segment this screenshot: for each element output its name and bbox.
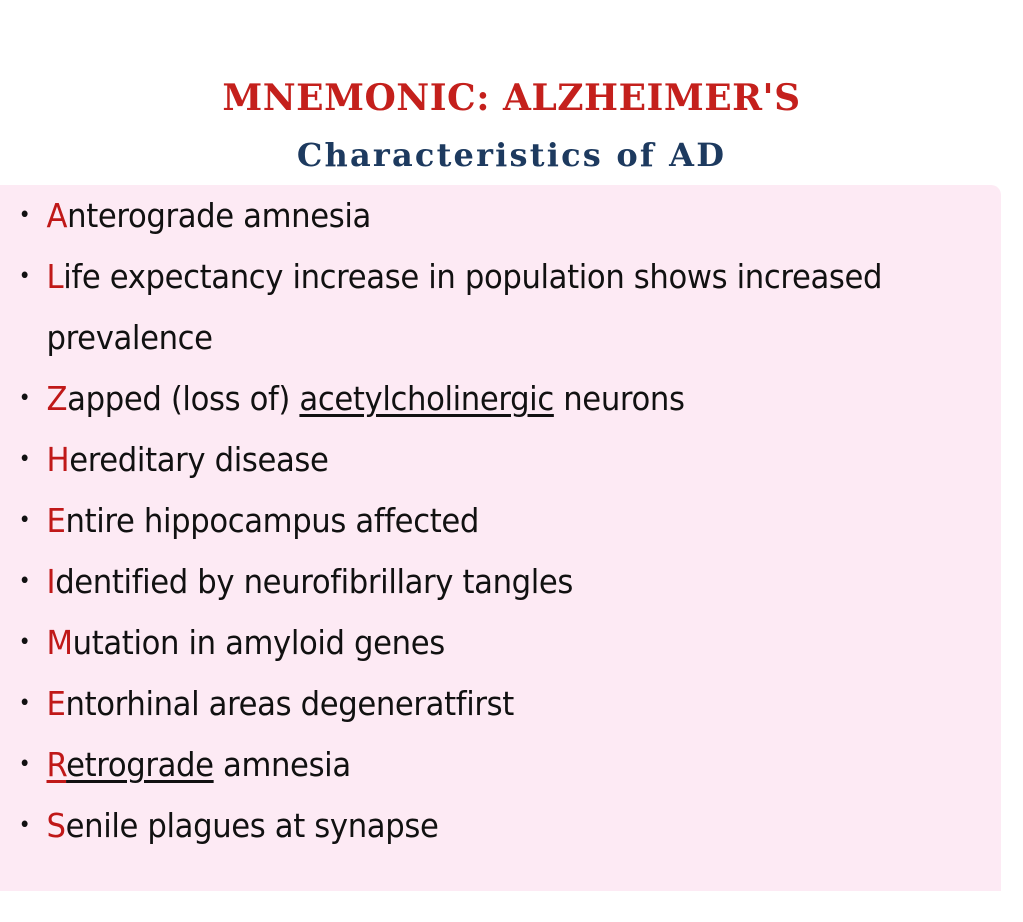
- item-text-after: neurons: [554, 379, 685, 418]
- list-item: Life expectancy increase in population s…: [0, 246, 977, 368]
- item-text: ereditary disease: [69, 440, 328, 479]
- item-text: enile plagues at synapse: [66, 806, 439, 845]
- list-item: Zapped (loss of) acetylcholinergic neuro…: [0, 368, 931, 429]
- page-subtitle: Characteristics of AD: [0, 136, 1023, 174]
- lead-letter: S: [47, 806, 66, 845]
- item-text: dentified by neurofibrillary tangles: [55, 562, 573, 601]
- item-text-underlined: etrograde: [66, 745, 214, 784]
- item-text: ife expectancy increase in population sh…: [47, 257, 883, 357]
- list-item: Hereditary disease: [0, 429, 931, 490]
- lead-letter: Z: [47, 379, 68, 418]
- item-text: nterograde amnesia: [67, 196, 371, 235]
- item-text-underlined: acetylcholinergic: [299, 379, 553, 418]
- list-item: Mutation in amyloid genes: [0, 612, 931, 673]
- list-item: Entorhinal areas degeneratfirst: [0, 673, 931, 734]
- lead-letter: H: [47, 440, 70, 479]
- lead-letter: A: [47, 196, 68, 235]
- lead-letter: L: [47, 257, 64, 296]
- page-root: MNEMONIC: ALZHEIMER'S Characteristics of…: [0, 0, 1023, 922]
- item-text-after: amnesia: [214, 745, 351, 784]
- list-item: Identified by neurofibrillary tangles: [0, 551, 931, 612]
- lead-letter: M: [47, 623, 73, 662]
- lead-letter: R: [47, 745, 67, 784]
- list-item: Entire hippocampus affected: [0, 490, 931, 551]
- item-text: utation in amyloid genes: [73, 623, 445, 662]
- page-title: MNEMONIC: ALZHEIMER'S: [0, 78, 1023, 118]
- item-text-before: apped (loss of): [67, 379, 299, 418]
- list-item: Anterograde amnesia: [0, 185, 931, 246]
- item-text: ntire hippocampus affected: [66, 501, 479, 540]
- content-panel: Anterograde amnesia Life expectancy incr…: [0, 185, 1001, 891]
- lead-letter: E: [47, 684, 66, 723]
- list-item: Senile plagues at synapse: [0, 795, 931, 856]
- mnemonic-list: Anterograde amnesia Life expectancy incr…: [0, 185, 1001, 856]
- item-text: ntorhinal areas degeneratfirst: [66, 684, 514, 723]
- lead-letter: E: [47, 501, 66, 540]
- list-item: Retrograde amnesia: [0, 734, 931, 795]
- header: MNEMONIC: ALZHEIMER'S Characteristics of…: [0, 0, 1023, 185]
